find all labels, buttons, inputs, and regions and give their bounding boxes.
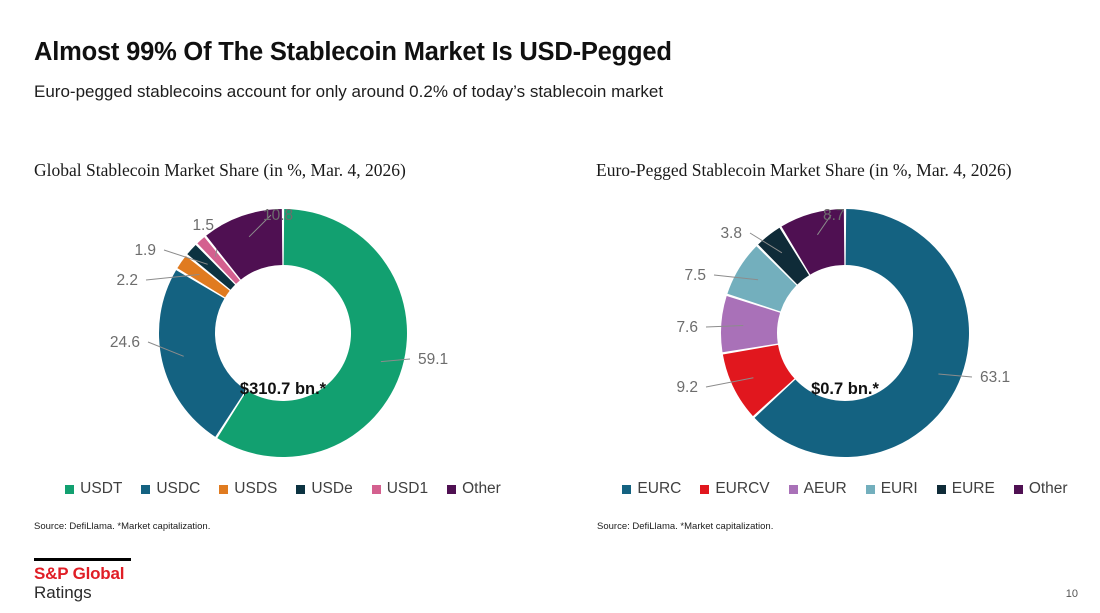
logo-rule — [34, 558, 131, 561]
data-label-usds: 2.2 — [116, 272, 138, 289]
legend-swatch-icon — [65, 485, 74, 494]
legend-swatch-icon — [937, 485, 946, 494]
legend-label: USDS — [234, 480, 277, 498]
legend-item-usde[interactable]: USDe — [296, 480, 352, 498]
legend-label: EURCV — [715, 480, 769, 498]
chart-legend-euro: EURCEURCVAEUREURIEUREOther — [580, 480, 1100, 498]
legend-item-other[interactable]: Other — [447, 480, 501, 498]
data-label-usd1: 1.5 — [192, 217, 214, 234]
legend-item-aeur[interactable]: AEUR — [789, 480, 847, 498]
donut-center-label-global: $310.7 bn.* — [18, 380, 548, 399]
page-title: Almost 99% Of The Stablecoin Market Is U… — [34, 38, 672, 67]
legend-item-usd1[interactable]: USD1 — [372, 480, 428, 498]
data-label-usdt: 59.1 — [418, 351, 448, 368]
legend-label: EURI — [881, 480, 918, 498]
data-label-other: 10.8 — [263, 207, 293, 224]
legend-label: EURE — [952, 480, 995, 498]
legend-swatch-icon — [789, 485, 798, 494]
legend-swatch-icon — [141, 485, 150, 494]
legend-label: Other — [462, 480, 501, 498]
legend-item-eurc[interactable]: EURC — [622, 480, 681, 498]
logo-sub-text: Ratings — [34, 583, 131, 602]
donut-svg-global: 59.124.62.21.91.510.8 — [18, 192, 548, 474]
legend-label: USD1 — [387, 480, 428, 498]
legend-label: USDe — [311, 480, 352, 498]
chart-panel-global: Global Stablecoin Market Share (in %, Ma… — [18, 150, 548, 550]
data-label-aeur: 7.6 — [676, 319, 698, 336]
chart-title-euro: Euro-Pegged Stablecoin Market Share (in … — [596, 160, 1012, 181]
donut-chart-global: 59.124.62.21.91.510.8 $310.7 bn.* — [18, 192, 548, 474]
legend-swatch-icon — [622, 485, 631, 494]
legend-swatch-icon — [447, 485, 456, 494]
slide: Almost 99% Of The Stablecoin Market Is U… — [0, 0, 1100, 613]
donut-slice-usdc — [159, 270, 246, 437]
data-label-other: 8.7 — [823, 207, 845, 224]
donut-svg-euro: 63.19.27.67.53.88.7 — [580, 192, 1100, 474]
legend-label: Other — [1029, 480, 1068, 498]
legend-label: USDC — [156, 480, 200, 498]
source-note-global: Source: DefiLlama. *Market capitalizatio… — [34, 521, 210, 532]
legend-label: USDT — [80, 480, 122, 498]
legend-item-usdc[interactable]: USDC — [141, 480, 200, 498]
data-label-usdc: 24.6 — [110, 334, 140, 351]
chart-title-global: Global Stablecoin Market Share (in %, Ma… — [34, 160, 406, 181]
legend-item-eurcv[interactable]: EURCV — [700, 480, 769, 498]
chart-panel-euro: Euro-Pegged Stablecoin Market Share (in … — [580, 150, 1100, 550]
page-subtitle: Euro-pegged stablecoins account for only… — [34, 82, 663, 102]
legend-swatch-icon — [700, 485, 709, 494]
legend-item-other[interactable]: Other — [1014, 480, 1068, 498]
legend-swatch-icon — [1014, 485, 1023, 494]
source-note-euro: Source: DefiLlama. *Market capitalizatio… — [597, 521, 773, 532]
legend-swatch-icon — [866, 485, 875, 494]
legend-item-eure[interactable]: EURE — [937, 480, 995, 498]
donut-center-label-euro: $0.7 bn.* — [580, 380, 1100, 399]
sp-global-logo: S&P Global Ratings — [34, 558, 131, 602]
data-label-eure: 3.8 — [720, 225, 742, 242]
legend-swatch-icon — [296, 485, 305, 494]
legend-label: EURC — [637, 480, 681, 498]
legend-swatch-icon — [372, 485, 381, 494]
chart-legend-global: USDTUSDCUSDSUSDeUSD1Other — [18, 480, 548, 498]
legend-item-euri[interactable]: EURI — [866, 480, 918, 498]
donut-chart-euro: 63.19.27.67.53.88.7 $0.7 bn.* — [580, 192, 1100, 474]
legend-item-usdt[interactable]: USDT — [65, 480, 122, 498]
logo-main-text: S&P Global — [34, 564, 131, 583]
legend-label: AEUR — [804, 480, 847, 498]
legend-item-usds[interactable]: USDS — [219, 480, 277, 498]
data-label-euri: 7.5 — [684, 267, 706, 284]
page-number: 10 — [1066, 588, 1078, 600]
data-label-usde: 1.9 — [134, 242, 156, 259]
legend-swatch-icon — [219, 485, 228, 494]
